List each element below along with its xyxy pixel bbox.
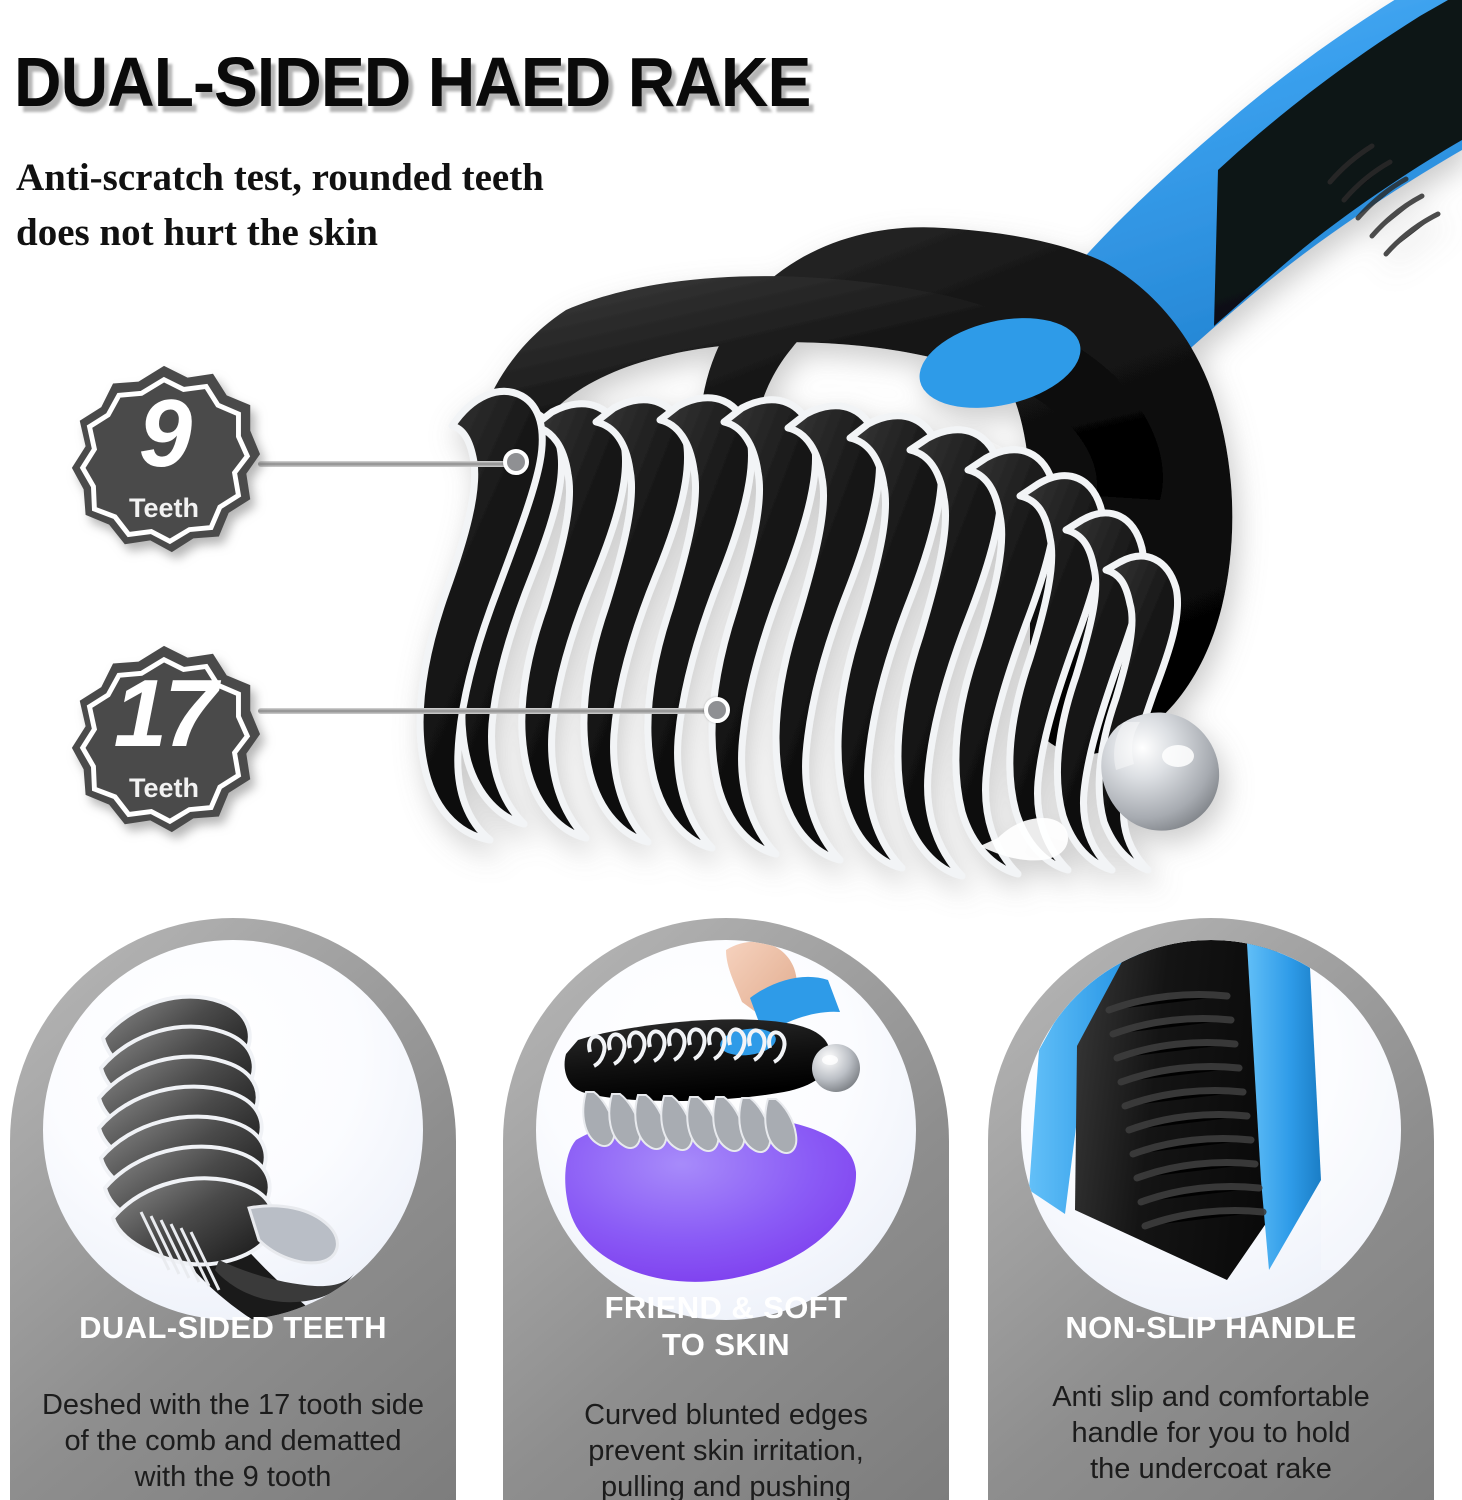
badge-9-teeth: 9 Teeth <box>66 362 262 558</box>
badge-number: 9 <box>66 386 262 482</box>
feature-cards-row: DUAL-SIDED TEETH Deshed with the 17 toot… <box>0 918 1462 1500</box>
feature-card-title: DUAL-SIDED TEETH <box>26 1310 440 1347</box>
feature-card-non-slip-handle: NON-SLIP HANDLE Anti slip and comfortabl… <box>988 918 1434 1500</box>
callout-line-9-teeth <box>258 461 516 467</box>
badge-number: 17 <box>66 666 262 762</box>
feature-card-body: Deshed with the 17 tooth side of the com… <box>22 1388 444 1500</box>
badge-label: Teeth <box>66 773 262 804</box>
badge-17-teeth: 17 Teeth <box>66 642 262 838</box>
rake-on-balloon-photo <box>536 940 916 1320</box>
callout-dot-17-teeth <box>704 697 730 723</box>
feature-card-body: Curved blunted edges prevent skin irrita… <box>515 1398 937 1500</box>
callout-line-17-teeth <box>258 708 720 714</box>
feature-card-friend-and-soft-to-skin: FRIEND & SOFT TO SKIN Curved blunted edg… <box>503 918 949 1500</box>
feature-card-body: Anti slip and comfortable handle for you… <box>1000 1380 1422 1488</box>
badge-label: Teeth <box>66 493 262 524</box>
feature-card-title: FRIEND & SOFT TO SKIN <box>519 1290 933 1363</box>
feature-card-dual-sided-teeth: DUAL-SIDED TEETH Deshed with the 17 toot… <box>10 918 456 1500</box>
feature-card-title: NON-SLIP HANDLE <box>1004 1310 1418 1347</box>
rake-teeth-closeup-photo <box>43 940 423 1320</box>
handle-grip-closeup-photo <box>1021 940 1401 1320</box>
callout-dot-9-teeth <box>503 449 529 475</box>
